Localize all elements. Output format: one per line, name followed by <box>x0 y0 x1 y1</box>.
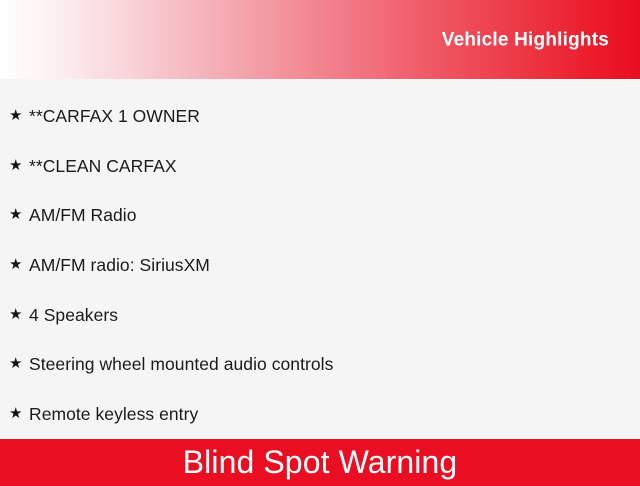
star-icon: ★ <box>9 158 29 173</box>
highlights-list: ★ **CARFAX 1 OWNER ★ **CLEAN CARFAX ★ AM… <box>0 79 640 439</box>
list-item-label: Remote keyless entry <box>29 405 198 424</box>
list-item-label: AM/FM radio: SiriusXM <box>29 256 210 275</box>
list-item-label: **CLEAN CARFAX <box>29 157 177 176</box>
star-icon: ★ <box>9 307 29 322</box>
list-item-label: 4 Speakers <box>29 306 118 325</box>
list-item-label: **CARFAX 1 OWNER <box>29 107 200 126</box>
list-item-label: AM/FM Radio <box>29 206 137 225</box>
list-item: ★ Steering wheel mounted audio controls <box>0 340 640 390</box>
star-icon: ★ <box>9 108 29 123</box>
footer-banner: Blind Spot Warning <box>0 439 640 486</box>
list-item: ★ AM/FM radio: SiriusXM <box>0 241 640 291</box>
list-item-label: Steering wheel mounted audio controls <box>29 355 333 374</box>
star-icon: ★ <box>9 257 29 272</box>
list-item: ★ 4 Speakers <box>0 290 640 340</box>
star-icon: ★ <box>9 207 29 222</box>
footer-feature-text: Blind Spot Warning <box>183 446 458 478</box>
list-item: ★ **CARFAX 1 OWNER <box>0 92 640 142</box>
star-icon: ★ <box>9 406 29 421</box>
vehicle-highlights-slide: Vehicle Highlights ★ **CARFAX 1 OWNER ★ … <box>0 0 640 480</box>
page-title: Vehicle Highlights <box>442 30 609 49</box>
header-banner: Vehicle Highlights <box>0 0 640 79</box>
list-item: ★ **CLEAN CARFAX <box>0 142 640 192</box>
list-item: ★ Remote keyless entry <box>0 390 640 440</box>
star-icon: ★ <box>9 356 29 371</box>
list-item: ★ AM/FM Radio <box>0 191 640 241</box>
